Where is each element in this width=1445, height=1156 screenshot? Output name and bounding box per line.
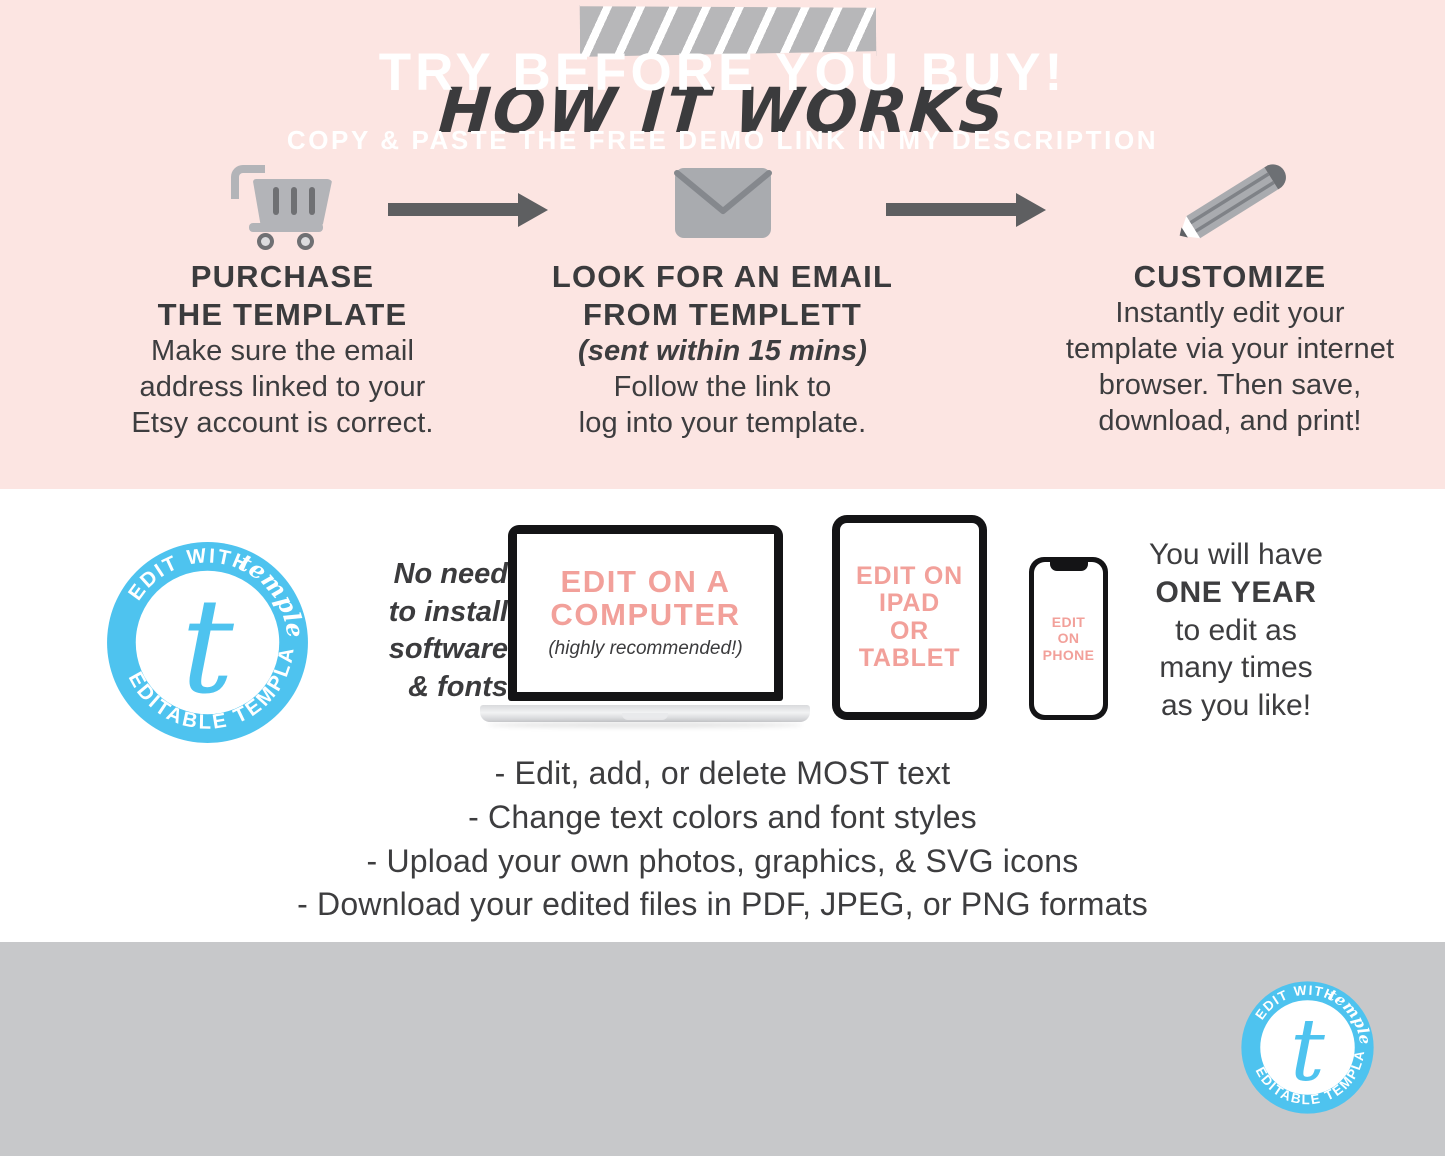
- laptop-trackpad-notch: [622, 713, 668, 720]
- envelope-icon: [525, 150, 920, 255]
- tablet-text-line1: EDIT ON: [856, 563, 963, 591]
- laptop-screen-subtitle: (highly recommended!): [548, 638, 742, 660]
- step-email-note: (sent within 15 mins): [525, 334, 920, 370]
- step-customize-body-line2: template via your internet: [1035, 332, 1425, 368]
- one-year-line2: to edit as: [1120, 612, 1352, 650]
- step-email-body-line1: Follow the link to: [525, 370, 920, 406]
- list-item: - Download your edited files in PDF, JPE…: [0, 883, 1445, 927]
- step-customize: CUSTOMIZE Instantly edit your template v…: [1035, 150, 1425, 440]
- tablet-screen-text: EDIT ON IPAD OR TABLET: [856, 563, 963, 673]
- list-item: - Change text colors and font styles: [0, 796, 1445, 840]
- step-purchase-body-line2: address linked to your: [95, 370, 470, 406]
- tablet-text-line4: TABLET: [856, 645, 963, 673]
- footer-subline: COPY & PASTE THE FREE DEMO LINK IN MY DE…: [0, 125, 1445, 156]
- laptop-title-line2: COMPUTER: [550, 599, 740, 632]
- step-customize-heading-line1: CUSTOMIZE: [1035, 258, 1425, 296]
- arrow-right-icon-1: [388, 193, 548, 227]
- list-item: - Edit, add, or delete MOST text: [0, 752, 1445, 796]
- phone-mockup: EDIT ON PHONE: [1029, 557, 1108, 720]
- footer-headline: TRY BEFORE YOU BUY!: [0, 42, 1445, 103]
- templett-badge: EDIT WITH templett EDITABLE TEMPLATE t: [105, 540, 310, 745]
- step-email-heading-line2: FROM TEMPLETT: [525, 296, 920, 334]
- step-purchase-heading: PURCHASE THE TEMPLATE: [95, 258, 470, 334]
- phone-screen: EDIT ON PHONE: [1034, 562, 1103, 715]
- step-purchase-heading-line2: THE TEMPLATE: [95, 296, 470, 334]
- step-email-heading-line1: LOOK FOR AN EMAIL: [525, 258, 920, 296]
- step-email-body: (sent within 15 mins) Follow the link to…: [525, 334, 920, 442]
- step-customize-body-line3: browser. Then save,: [1035, 368, 1425, 404]
- tablet-screen: EDIT ON IPAD OR TABLET: [840, 523, 979, 712]
- one-year-highlight: ONE YEAR: [1156, 576, 1317, 609]
- tablet-text-line3: OR: [856, 618, 963, 646]
- step-purchase-heading-line1: PURCHASE: [95, 258, 470, 296]
- phone-text-line3: PHONE: [1043, 647, 1095, 663]
- laptop-screen-title: EDIT ON A COMPUTER: [550, 566, 740, 632]
- phone-screen-text: EDIT ON PHONE: [1043, 614, 1095, 662]
- footer-banner: [0, 942, 1445, 1156]
- steps-row: PURCHASE THE TEMPLATE Make sure the emai…: [0, 150, 1445, 470]
- step-customize-body: Instantly edit your template via your in…: [1035, 296, 1425, 440]
- phone-notch-icon: [1050, 562, 1088, 571]
- step-email-heading: LOOK FOR AN EMAIL FROM TEMPLETT: [525, 258, 920, 334]
- pencil-icon: [1035, 150, 1425, 255]
- badge-footer-letter-t: t: [1290, 1001, 1325, 1101]
- phone-text-line2: ON: [1043, 630, 1095, 646]
- laptop-shadow: [488, 722, 802, 728]
- one-year-note: You will have ONE YEAR to edit as many t…: [1120, 536, 1352, 725]
- one-year-line4: as you like!: [1120, 687, 1352, 725]
- laptop-screen: EDIT ON A COMPUTER (highly recommended!): [517, 534, 774, 692]
- step-customize-body-line1: Instantly edit your: [1035, 296, 1425, 332]
- laptop-lid: EDIT ON A COMPUTER (highly recommended!): [508, 525, 783, 701]
- step-email-body-line2: log into your template.: [525, 406, 920, 442]
- step-purchase-body: Make sure the email address linked to yo…: [95, 334, 470, 442]
- list-item: - Upload your own photos, graphics, & SV…: [0, 840, 1445, 884]
- one-year-line3: many times: [1120, 649, 1352, 687]
- step-customize-body-line4: download, and print!: [1035, 404, 1425, 440]
- features-list: - Edit, add, or delete MOST text - Chang…: [0, 752, 1445, 927]
- infographic-canvas: HOW IT WORKS PURCHASE THE TEMPLATE: [0, 0, 1445, 1156]
- laptop-mockup: EDIT ON A COMPUTER (highly recommended!): [480, 525, 810, 730]
- badge-letter-t: t: [181, 570, 234, 723]
- tablet-mockup: EDIT ON IPAD OR TABLET: [832, 515, 987, 720]
- tablet-text-line2: IPAD: [856, 590, 963, 618]
- step-customize-heading: CUSTOMIZE: [1035, 258, 1425, 296]
- arrow-right-icon-2: [886, 193, 1046, 227]
- templett-badge-footer: EDIT WITH templett EDITABLE TEMPLATE t: [1240, 980, 1375, 1115]
- step-email: LOOK FOR AN EMAIL FROM TEMPLETT (sent wi…: [525, 150, 920, 441]
- one-year-line1: You will have: [1120, 536, 1352, 574]
- step-purchase-body-line3: Etsy account is correct.: [95, 406, 470, 442]
- step-purchase-body-line1: Make sure the email: [95, 334, 470, 370]
- laptop-title-line1: EDIT ON A: [550, 566, 740, 599]
- phone-text-line1: EDIT: [1043, 614, 1095, 630]
